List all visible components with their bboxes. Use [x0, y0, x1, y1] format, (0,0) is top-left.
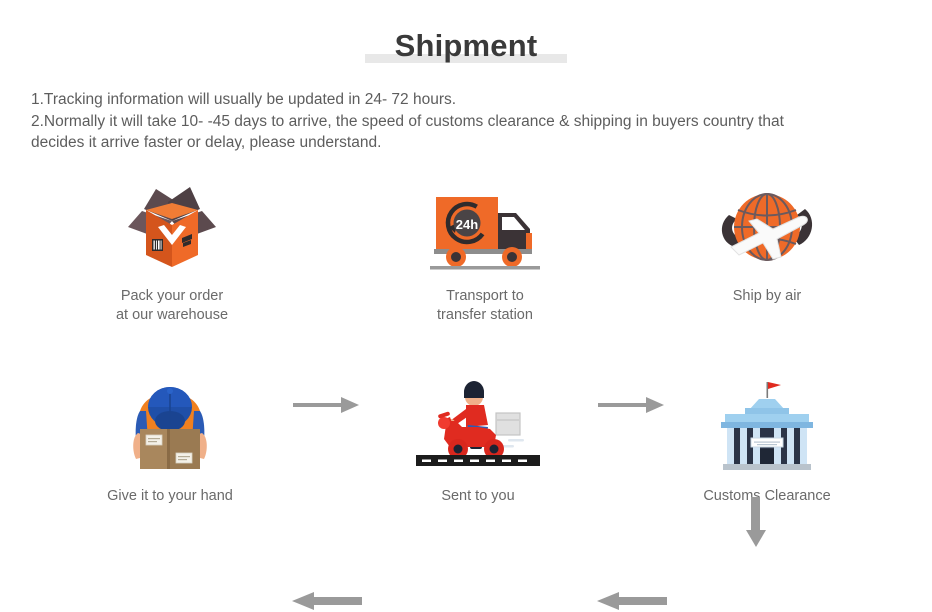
- delivery-truck-24h-icon: 24h: [395, 178, 575, 273]
- title-inner: Shipment: [365, 26, 568, 66]
- caption-line-1: Customs Clearance: [677, 487, 857, 506]
- step-caption: Transport to transfer station: [395, 287, 575, 325]
- flow-step-sent-to-you: Sent to you: [388, 378, 568, 506]
- step-caption: Sent to you: [388, 487, 568, 506]
- step-caption: Pack your order at our warehouse: [82, 287, 262, 325]
- caption-line-1: Pack your order: [82, 287, 262, 306]
- arrow-customs-to-scooter: [597, 590, 667, 612]
- caption-line-2: at our warehouse: [82, 306, 262, 325]
- arrow-scooter-to-hand: [292, 590, 362, 612]
- flow-step-ship-by-air: Ship by air: [677, 178, 857, 306]
- caption-line-1: Sent to you: [388, 487, 568, 506]
- courier-holding-package-icon: [80, 378, 260, 473]
- page-title: Shipment: [0, 26, 932, 66]
- truck-24h-badge-text: 24h: [456, 217, 478, 232]
- policy-line-1: 1.Tracking information will usually be u…: [31, 89, 897, 111]
- scooter-courier-icon: [388, 378, 568, 473]
- shipment-flow-diagram: Pack your order at our warehouse 24h: [0, 170, 932, 535]
- shipping-policy-text: 1.Tracking information will usually be u…: [31, 89, 897, 154]
- customs-building-icon: [677, 378, 857, 473]
- arrow-pack-to-transport: [293, 395, 359, 415]
- arrow-transport-to-air: [598, 395, 664, 415]
- flow-step-pack-order: Pack your order at our warehouse: [82, 178, 262, 325]
- step-caption: Give it to your hand: [80, 487, 260, 506]
- caption-line-1: Give it to your hand: [80, 487, 260, 506]
- flow-step-customs-clearance: Customs Clearance: [677, 378, 857, 506]
- caption-line-1: Transport to: [395, 287, 575, 306]
- step-caption: Ship by air: [677, 287, 857, 306]
- policy-line-2: 2.Normally it will take 10- -45 days to …: [31, 111, 897, 133]
- flow-step-transport: 24h Transport to transfer station: [395, 178, 575, 325]
- arrow-air-to-customs: [745, 497, 767, 547]
- step-caption: Customs Clearance: [677, 487, 857, 506]
- title-text: Shipment: [395, 26, 538, 66]
- caption-line-1: Ship by air: [677, 287, 857, 306]
- globe-airplane-icon: [677, 178, 857, 273]
- caption-line-2: transfer station: [395, 306, 575, 325]
- flow-step-give-to-hand: Give it to your hand: [80, 378, 260, 506]
- policy-line-3: decides it arrive faster or delay, pleas…: [31, 132, 897, 154]
- open-box-icon: [82, 178, 262, 273]
